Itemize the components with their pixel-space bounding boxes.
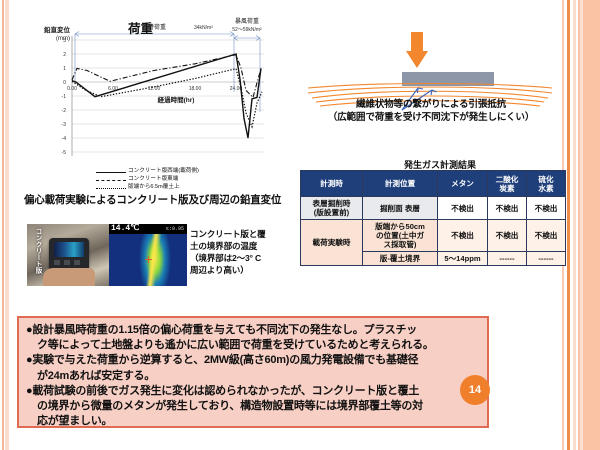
chart-caption: 偏心載荷実験によるコンクリート版及び周辺の鉛直変位	[24, 192, 306, 207]
y-tick: 2	[63, 52, 66, 58]
ir-temperature: 14.4℃	[111, 224, 139, 234]
y-tick: 1	[63, 66, 66, 72]
load-label: 荷重	[128, 18, 153, 37]
site-photo: コンクリート版	[27, 224, 109, 286]
cell-when: 表層掘削時(版設置前)	[301, 197, 363, 220]
normal-load-value: 34kN/m²	[194, 25, 213, 31]
bullet-line: 応が望ましい。	[26, 414, 480, 429]
y-tick: -1	[62, 94, 67, 100]
legend-item: コンクリート版東端	[96, 176, 286, 183]
storm-load-label: 暴風荷重	[235, 17, 259, 25]
legend-swatch-dashdot	[96, 177, 126, 183]
legend-swatch-dotted	[96, 185, 126, 191]
camera-buttons	[54, 260, 84, 265]
y-axis-unit: (mm)	[56, 36, 70, 42]
cell-methane: 5〜14ppm	[438, 252, 488, 266]
y-tick: -3	[62, 122, 67, 128]
cell-co2: 不検出	[488, 197, 527, 220]
cell-methane: 不検出	[438, 220, 488, 252]
bullet-line: ク等によって土地盤よりも遙かに広い範囲で荷重を受けているためと考えられる。	[26, 338, 480, 353]
legend-item: 版端から6.5m覆土上	[96, 184, 286, 191]
cell-h2s: 不検出	[527, 220, 566, 252]
gas-measurement-table: 計測時 計測位置 メタン 二酸化炭素 硫化水素 表層掘削時(版設置前) 掘削面 …	[300, 170, 566, 266]
thermal-caption-line: （境界部は2〜3° C	[190, 252, 302, 264]
displacement-chart: 3 2 1 0 -1 -2 -3 -4 -5 0.00 6.00 12.00 1…	[26, 12, 298, 172]
chart-gridlines	[72, 40, 264, 152]
y-tick: -5	[62, 150, 67, 156]
table-header-row: 計測時 計測位置 メタン 二酸化炭素 硫化水素	[301, 171, 566, 197]
col-header-when: 計測時	[301, 171, 363, 197]
legend-label: コンクリート版西端(載荷側)	[128, 168, 199, 175]
x-axis-title: 経過時間(hr)	[158, 95, 195, 104]
thermal-caption-line: コンクリート版と覆	[190, 228, 302, 240]
concrete-slab-label: コンクリート版	[29, 228, 41, 274]
bullet-line: ●実験で与えた荷重から逆算すると、2MW級(高さ60m)の風力発電設備でも基礎径	[26, 353, 480, 368]
infrared-image: 14.4℃ ε:0.95	[109, 224, 187, 286]
x-tick: 12.00	[148, 86, 161, 92]
edge-stripe	[5, 0, 9, 450]
edge-stripe	[567, 0, 570, 450]
legend-swatch-solid	[96, 169, 126, 175]
cell-methane: 不検出	[438, 197, 488, 220]
thermal-figure: コンクリート版 14.4℃ ε:0.95	[27, 224, 187, 286]
table-row: 載荷実験時 版端から50cm の位置(土中ガ ス採取管) 不検出 不検出 不検出	[301, 220, 566, 252]
cell-co2: ------	[488, 252, 527, 266]
col-header-methane: メタン	[438, 171, 488, 197]
edge-stripe	[2, 0, 4, 450]
conclusions-box: ●設計暴風時荷重の1.15倍の偏心荷重を与えても不同沈下の発生なし。プラスチッ …	[17, 316, 489, 428]
hand	[43, 268, 95, 286]
left-edge-stripes	[0, 0, 12, 450]
thermal-caption: コンクリート版と覆 土の境界部の温度 （境界部は2〜3° C 周辺より高い）	[190, 228, 302, 276]
tension-resistance-caption: 繊維状物等の繋がりによる引張抵抗 （広範囲で荷重を受け不同沈下が発生しにくい）	[306, 98, 556, 124]
legend-label: コンクリート版東端	[128, 176, 178, 183]
bullet-line: ●設計暴風時荷重の1.15倍の偏心荷重を与えても不同沈下の発生なし。プラスチッ	[26, 323, 480, 338]
cell-position: 掘削面 表層	[363, 197, 438, 220]
x-tick: 18.00	[189, 86, 202, 92]
col-header-h2s: 硫化水素	[527, 171, 566, 197]
y-tick: 0	[63, 80, 66, 86]
tension-caption-line: （広範囲で荷重を受け不同沈下が発生しにくい）	[306, 111, 556, 124]
cell-position: 版-覆土境界	[363, 252, 438, 266]
cell-h2s: ------	[527, 252, 566, 266]
bullet-line: ●載荷試験の前後でガス発生に変化は認められなかったが、コンクリート版と覆土	[26, 384, 480, 399]
x-tick: 0.00	[67, 86, 77, 92]
cell-position: 版端から50cm の位置(土中ガ ス採取管)	[363, 220, 438, 252]
legend-label: 版端から6.5m覆土上	[128, 184, 180, 191]
chart-legend: コンクリート版西端(載荷側) コンクリート版東端 版端から6.5m覆土上	[96, 168, 286, 192]
bullet-line: の境界から微量のメタンが発生しており、構造物設置時等には境界部覆土等の対	[26, 399, 480, 414]
cell-h2s: 不検出	[527, 197, 566, 220]
y-tick: -2	[62, 108, 67, 114]
table-row: 表層掘削時(版設置前) 掘削面 表層 不検出 不検出 不検出	[301, 197, 566, 220]
ir-crosshair-icon	[145, 256, 152, 263]
legend-item: コンクリート版西端(載荷側)	[96, 168, 286, 175]
fiber-curves	[306, 14, 556, 144]
tension-caption-line: 繊維状物等の繋がりによる引張抵抗	[306, 98, 556, 111]
load-span-storm	[234, 36, 260, 113]
y-tick: -4	[62, 136, 67, 142]
thermal-caption-line: 周辺より高い）	[190, 264, 302, 276]
col-header-position: 計測位置	[363, 171, 438, 197]
cell-when: 載荷実験時	[301, 220, 363, 266]
edge-stripe	[573, 0, 576, 450]
load-distribution-diagram	[306, 14, 556, 144]
ir-emissivity: ε:0.95	[166, 225, 184, 234]
camera-screen	[54, 242, 84, 257]
page-number-badge: 14	[460, 375, 490, 405]
col-header-co2: 二酸化炭素	[488, 171, 527, 197]
y-axis-title: 鉛直変位	[44, 25, 71, 34]
bullet-line: が24mあれば安定する。	[26, 369, 480, 384]
thermal-caption-line: 土の境界部の温度	[190, 240, 302, 252]
storm-load-value: 52〜59kN/m²	[232, 27, 262, 33]
edge-stripe	[580, 0, 583, 450]
cell-co2: 不検出	[488, 220, 527, 252]
